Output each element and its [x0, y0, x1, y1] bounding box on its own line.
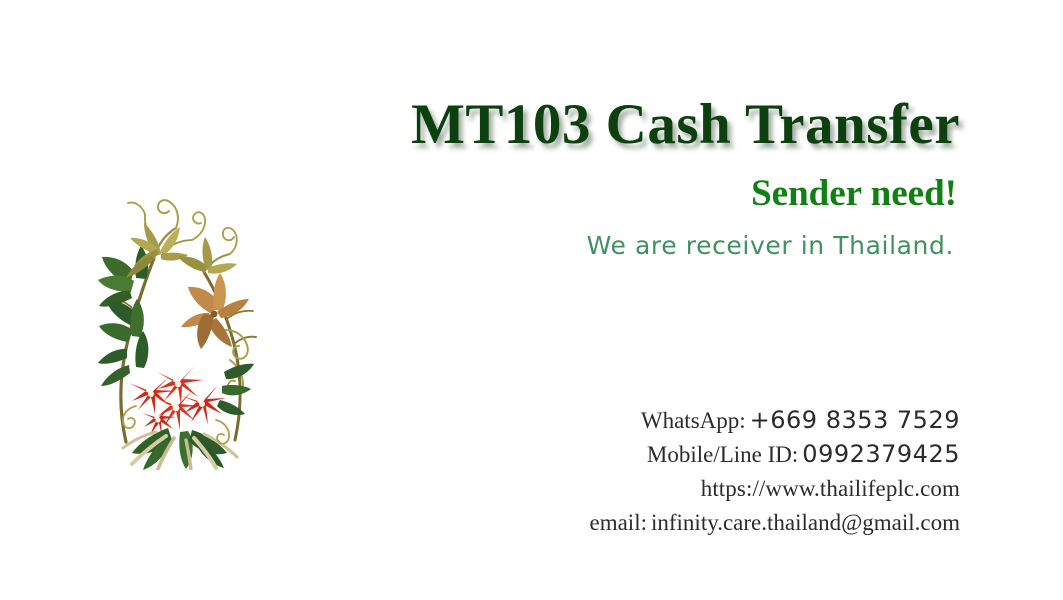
email-address[interactable]: infinity.care.thailand@gmail.com [651, 510, 960, 535]
page-title: MT103 Cash Transfer [300, 96, 960, 153]
leaf-cluster-right-mid [217, 364, 254, 415]
autumn-palmate-leaf [181, 273, 249, 349]
contact-row-website: https://www.thailifeplc.com [420, 473, 960, 507]
leaf-cluster-mid-left [98, 299, 148, 386]
spiky-leaves-top [126, 223, 188, 278]
subtitle: Sender need! [300, 175, 960, 212]
red-flower-cluster [129, 366, 226, 437]
tagline: We are receiver in Thailand. [300, 233, 960, 258]
flower-center [156, 391, 199, 430]
whatsapp-number[interactable]: +669 8353 7529 [750, 406, 960, 434]
contact-block: WhatsApp: +669 8353 7529 Mobile/Line ID:… [420, 405, 960, 541]
headline-block: MT103 Cash Transfer Sender need! We are … [300, 96, 960, 258]
email-label: email: [590, 510, 647, 535]
contact-row-whatsapp: WhatsApp: +669 8353 7529 [420, 405, 960, 439]
website-url[interactable]: https://www.thailifeplc.com [701, 476, 960, 501]
floral-illustration-svg [96, 192, 261, 470]
flower-top-center [157, 366, 203, 405]
contact-row-email: email: infinity.care.thailand@gmail.com [420, 507, 960, 541]
mobile-line-id-label: Mobile/Line ID: [647, 442, 798, 467]
floral-illustration [96, 192, 261, 470]
mobile-line-id-number[interactable]: 0992379425 [802, 440, 960, 468]
whatsapp-label: WhatsApp: [641, 408, 746, 433]
flyer-canvas: MT103 Cash Transfer Sender need! We are … [0, 0, 1063, 600]
contact-row-mobile: Mobile/Line ID: 0992379425 [420, 439, 960, 473]
